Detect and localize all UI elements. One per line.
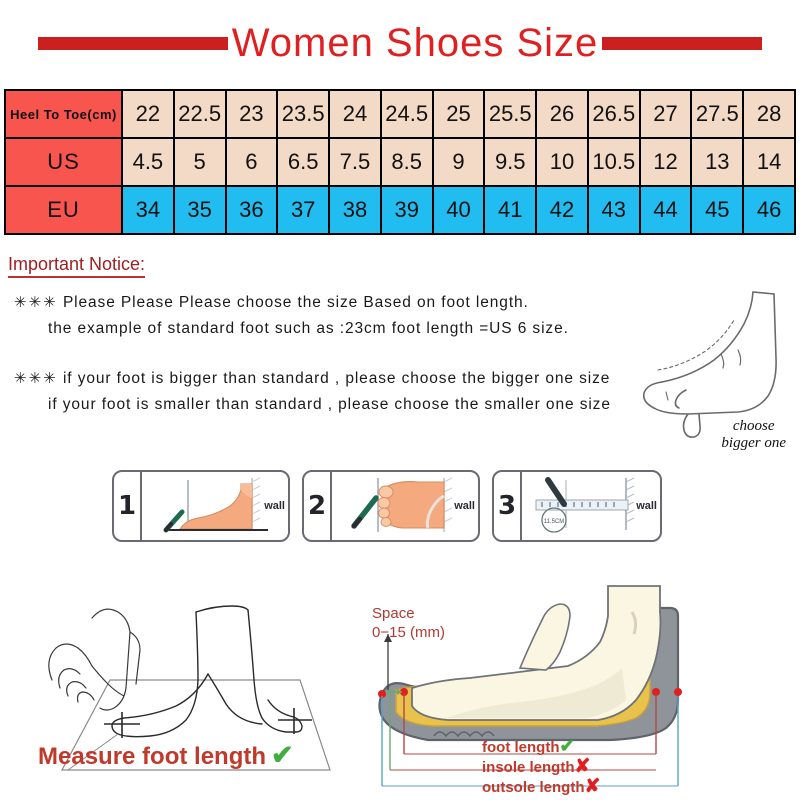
important-notice-heading: Important Notice: (8, 254, 145, 278)
eu-cell: 42 (536, 186, 588, 234)
us-cell: 9 (433, 138, 485, 186)
step-number: 2 (304, 472, 332, 540)
us-cell: 10 (536, 138, 588, 186)
caption-line-1: choose (721, 418, 786, 435)
cm-cell: 25.5 (484, 90, 536, 138)
us-cell: 7.5 (329, 138, 381, 186)
us-cell: 6.5 (277, 138, 329, 186)
eu-cell: 39 (381, 186, 433, 234)
us-cell: 8.5 (381, 138, 433, 186)
cm-cell: 26.5 (588, 90, 640, 138)
cm-cell: 24 (329, 90, 381, 138)
cm-cell: 22.5 (174, 90, 226, 138)
cm-cell: 26 (536, 90, 588, 138)
ruler-badge-text: 11.5CM (544, 519, 565, 525)
green-check-icon: ✔ (271, 740, 294, 770)
notice-line: the example of standard foot such as :23… (14, 316, 694, 342)
row-label-heel-to-toe: Heel To Toe(cm) (5, 90, 122, 138)
table-row-us: US 4.5 5 6 6.5 7.5 8.5 9 9.5 10 10.5 12 … (5, 138, 795, 186)
cm-cell: 24.5 (381, 90, 433, 138)
row-label-us: US (5, 138, 122, 186)
red-cross-icon: ✘ (585, 776, 601, 797)
eu-cell: 44 (640, 186, 692, 234)
wall-label: wall (454, 500, 475, 512)
step-1-illustration: wall (142, 472, 288, 540)
cm-cell: 25 (433, 90, 485, 138)
measure-foot-length-caption: Measure foot length✔ (38, 740, 294, 771)
measurement-steps: 1 wall (112, 470, 662, 542)
red-cross-icon: ✘ (575, 756, 591, 777)
title-bar-right (602, 37, 762, 50)
legend-label: insole length (482, 759, 575, 776)
step-number: 3 (494, 472, 522, 540)
notice-line: ✳✳✳ if your foot is bigger than standard… (14, 366, 694, 392)
title-bar-left (38, 37, 228, 50)
us-cell: 10.5 (588, 138, 640, 186)
eu-cell: 45 (691, 186, 743, 234)
notice-line-text: Please Please Please choose the size Bas… (63, 294, 529, 311)
space-label: Space 0−15 (mm) (372, 604, 445, 642)
notice-line: ✳✳✳ Please Please Please choose the size… (14, 290, 694, 316)
eu-cell: 38 (329, 186, 381, 234)
wall-label: wall (264, 500, 285, 512)
notice-text-block: ✳✳✳ Please Please Please choose the size… (14, 290, 694, 418)
notice-spacer (14, 342, 694, 366)
measure-caption-text: Measure foot length (38, 743, 266, 770)
wall-label: wall (636, 500, 657, 512)
step-number: 1 (114, 472, 142, 540)
asterisk-icon: ✳✳✳ (14, 370, 58, 387)
page-title-row: Women Shoes Size (0, 16, 800, 70)
cm-cell: 23.5 (277, 90, 329, 138)
us-cell: 6 (226, 138, 278, 186)
us-cell: 13 (691, 138, 743, 186)
eu-cell: 35 (174, 186, 226, 234)
eu-cell: 37 (277, 186, 329, 234)
space-label-line-2: 0−15 (mm) (372, 623, 445, 642)
row-label-eu: EU (5, 186, 122, 234)
cm-cell: 27 (640, 90, 692, 138)
notice-line: if your foot is smaller than standard , … (14, 392, 694, 418)
caption-line-2: bigger one (721, 435, 786, 452)
notice-line-text: if your foot is smaller than standard , … (48, 396, 611, 413)
step-panel-1: 1 wall (112, 470, 290, 542)
notice-line-text: if your foot is bigger than standard , p… (63, 370, 610, 387)
green-check-icon: ✔ (559, 736, 574, 756)
notice-line-text: the example of standard foot such as :23… (48, 320, 569, 337)
size-conversion-table: Heel To Toe(cm) 22 22.5 23 23.5 24 24.5 … (4, 89, 796, 235)
step-panel-3: 3 (492, 470, 662, 542)
legend-item-foot-length: foot length✔ (482, 737, 600, 757)
eu-cell: 43 (588, 186, 640, 234)
choose-bigger-one-caption: choose bigger one (721, 418, 786, 452)
legend-item-outsole-length: outsole length✘ (482, 777, 600, 797)
step-3-illustration: 11.5CM wall (522, 472, 660, 540)
cm-cell: 22 (122, 90, 174, 138)
step-2-illustration: wall (332, 472, 478, 540)
asterisk-icon: ✳✳✳ (14, 294, 58, 311)
eu-cell: 36 (226, 186, 278, 234)
cm-cell: 28 (743, 90, 795, 138)
eu-cell: 46 (743, 186, 795, 234)
cm-cell: 27.5 (691, 90, 743, 138)
eu-cell: 41 (484, 186, 536, 234)
table-row-heel-to-toe: Heel To Toe(cm) 22 22.5 23 23.5 24 24.5 … (5, 90, 795, 138)
us-cell: 12 (640, 138, 692, 186)
eu-cell: 34 (122, 186, 174, 234)
us-cell: 5 (174, 138, 226, 186)
cm-cell: 23 (226, 90, 278, 138)
space-label-line-1: Space (372, 604, 445, 623)
us-cell: 14 (743, 138, 795, 186)
table-row-eu: EU 34 35 36 37 38 39 40 41 42 43 44 45 4… (5, 186, 795, 234)
shoe-diagram-legend: foot length✔ insole length✘ outsole leng… (482, 737, 600, 797)
shoe-size-chart-page: Women Shoes Size Heel To Toe(cm) 22 22.5… (0, 0, 800, 800)
legend-label: outsole length (482, 779, 585, 796)
us-cell: 9.5 (484, 138, 536, 186)
eu-cell: 40 (433, 186, 485, 234)
step-panel-2: 2 (302, 470, 480, 542)
legend-label: foot length (482, 739, 559, 756)
page-title: Women Shoes Size (232, 21, 599, 66)
us-cell: 4.5 (122, 138, 174, 186)
legend-item-insole-length: insole length✘ (482, 757, 600, 777)
